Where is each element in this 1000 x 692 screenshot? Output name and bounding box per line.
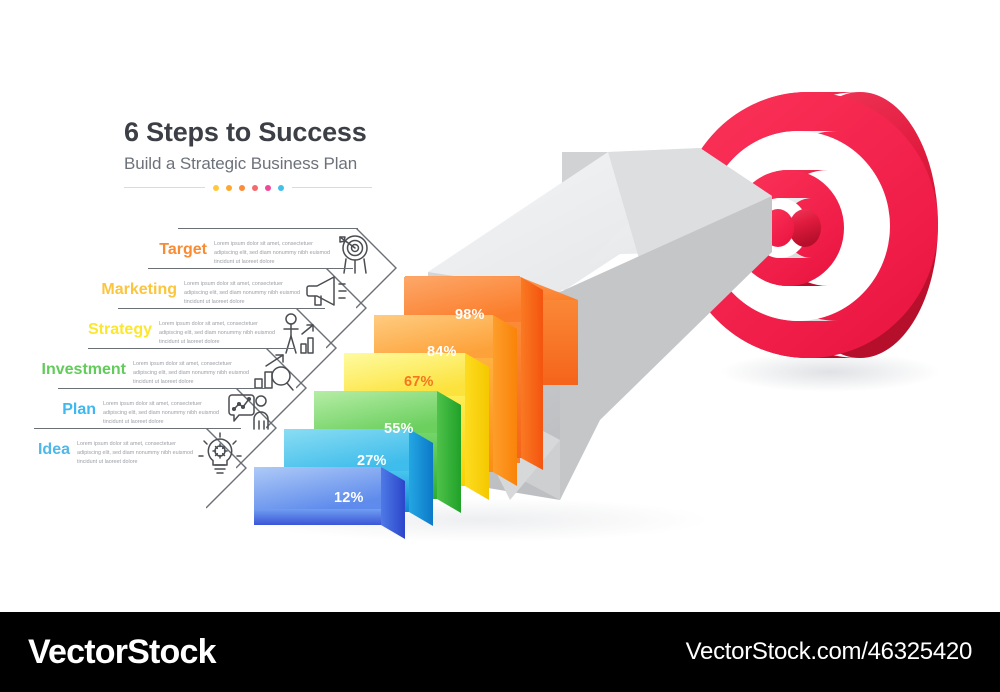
- watermark-footer: VectorStock VectorStock.com/46325420: [0, 612, 1000, 692]
- chat-chart-person-icon: [226, 392, 272, 432]
- step-description-strategy: Lorem ipsum dolor sit amet, consectetuer…: [159, 320, 283, 346]
- brand-url: VectorStock.com/46325420: [686, 638, 972, 666]
- step-row-rule: [88, 348, 295, 349]
- step-row-rule: [58, 388, 265, 389]
- bar55-side: [437, 391, 461, 513]
- step-row-idea[interactable]: IdeaLorem ipsum dolor sit amet, consecte…: [0, 428, 430, 468]
- step-description-idea: Lorem ipsum dolor sit amet, consectetuer…: [77, 440, 201, 466]
- step-label-target: Target: [0, 241, 207, 259]
- brand-logo: VectorStock: [28, 633, 216, 672]
- step-row-investment[interactable]: InvestmentLorem ipsum dolor sit amet, co…: [0, 348, 430, 388]
- bar-percent-marketing: 84%: [427, 344, 457, 360]
- step-description-plan: Lorem ipsum dolor sit amet, consectetuer…: [103, 400, 227, 426]
- bar98-side: [521, 277, 543, 470]
- step-row-strategy[interactable]: StrategyLorem ipsum dolor sit amet, cons…: [0, 308, 430, 348]
- step-row-rule: [118, 308, 325, 309]
- bar-12-idea: [254, 467, 405, 539]
- bar-percent-idea: 12%: [334, 490, 364, 506]
- step-label-investment: Investment: [0, 361, 126, 379]
- bar84-side: [493, 315, 517, 486]
- step-label-strategy: Strategy: [0, 321, 152, 339]
- step-description-target: Lorem ipsum dolor sit amet, consectetuer…: [214, 240, 338, 266]
- step-row-rule: [148, 268, 353, 269]
- bar-percent-target: 98%: [455, 307, 485, 323]
- infographic-canvas: 6 Steps to Success Build a Strategic Bus…: [0, 0, 1000, 692]
- step-description-marketing: Lorem ipsum dolor sit amet, consectetuer…: [184, 280, 308, 306]
- bar12-front: [254, 509, 381, 525]
- lightbulb-gear-icon: [196, 432, 244, 480]
- step-description-investment: Lorem ipsum dolor sit amet, consectetuer…: [133, 360, 257, 386]
- step-row-target[interactable]: TargetLorem ipsum dolor sit amet, consec…: [0, 228, 430, 268]
- step-row-marketing[interactable]: MarketingLorem ipsum dolor sit amet, con…: [0, 268, 430, 308]
- step-label-plan: Plan: [0, 401, 96, 419]
- step-row-rule: [178, 228, 358, 229]
- step-row-plan[interactable]: PlanLorem ipsum dolor sit amet, consecte…: [0, 388, 430, 428]
- artboard: 6 Steps to Success Build a Strategic Bus…: [0, 0, 1000, 612]
- step-label-marketing: Marketing: [0, 281, 177, 299]
- step-label-idea: Idea: [0, 441, 70, 459]
- bar67-side: [465, 353, 489, 500]
- megaphone-icon: [304, 272, 348, 310]
